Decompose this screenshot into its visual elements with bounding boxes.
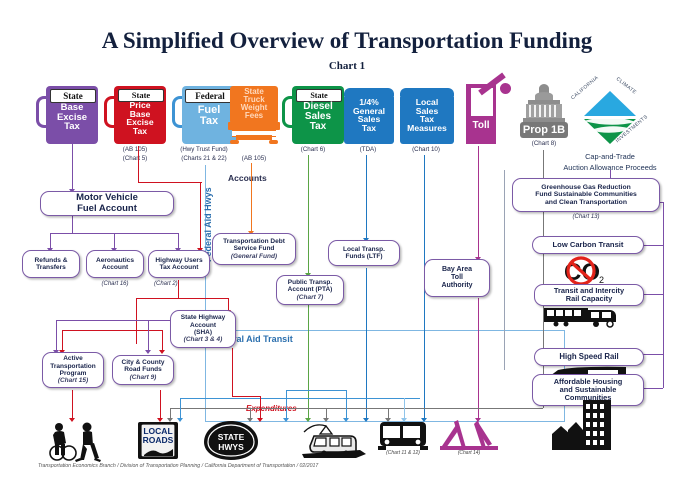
source-state-diesel-sales-tax[interactable]: State DieselSalesTax: [282, 86, 344, 144]
link-price-excise-right: [138, 182, 202, 183]
node-line: Bay Area: [442, 266, 472, 274]
node-low-carbon-transit[interactable]: Low Carbon Transit: [532, 236, 644, 254]
node-line: Transfers: [36, 264, 66, 271]
node-line: Program: [60, 370, 87, 377]
source-label: Prop 1B: [520, 125, 568, 136]
diagram-canvas: A Simplified Overview of Transportation …: [0, 0, 694, 495]
link-huta-split: [136, 298, 228, 299]
link-ccrf-to-localroads: [160, 390, 161, 420]
source-label: BaseExciseTax: [46, 103, 98, 132]
node-line: Active: [63, 355, 83, 362]
node-note-aeronautics: (Chart 16): [86, 281, 144, 287]
node-line: Account (PTA): [288, 286, 333, 293]
node-note-pta: (Chart 7): [297, 294, 324, 301]
page-title: A Simplified Overview of Transportation …: [0, 28, 694, 54]
chart-subtitle: Chart 1: [0, 60, 694, 72]
source-local-sales-tax-measures[interactable]: LocalSalesTaxMeasures: [396, 86, 456, 144]
node-note-huta: (Chart 2): [154, 281, 216, 287]
node-motor-vehicle-fuel-account[interactable]: Motor Vehicle Fuel Account: [40, 191, 174, 216]
source-label: 1/4%GeneralSalesTax: [344, 98, 394, 132]
node-line: and Clean Transportation: [545, 199, 627, 207]
source-note: (TDA): [340, 146, 396, 153]
bicyclist-pedestrian-icon: [46, 422, 106, 462]
link-sha-down: [232, 348, 233, 396]
bridge-caption: (Chart 14): [434, 450, 504, 456]
node-line: Motor Vehicle: [76, 193, 138, 204]
source-state-truck-weight-fees[interactable]: StateTruckWeightFees: [228, 86, 280, 144]
footer-credit: Transportation Economics Branch / Divisi…: [38, 463, 318, 469]
node-line: State Highway: [181, 314, 225, 321]
node-note-tdsf: (General Fund): [231, 253, 277, 260]
source-note: (AB 105): [104, 146, 166, 153]
cap-and-trade-divider: [504, 170, 505, 370]
node-note-ccrf: (Chart 9): [130, 374, 157, 381]
source-note: (Chart 5): [104, 155, 166, 162]
bus-train-icon: [544, 306, 618, 328]
link-price-excise-to-huta: [200, 182, 201, 250]
source-state-price-base-excise-tax[interactable]: State PriceBaseExciseTax: [104, 86, 166, 144]
node-refunds-transfers[interactable]: Refunds & Transfers: [22, 250, 80, 278]
source-label: DieselSalesTax: [292, 102, 344, 132]
node-line: Toll: [451, 274, 463, 282]
accounts-label: Accounts: [228, 173, 267, 183]
state-hwys-shield-icon: STATE HWYS: [202, 420, 260, 462]
link-truck-fees-to-debt-service: [251, 163, 252, 233]
node-bay-area-toll-authority[interactable]: Bay Area Toll Authority: [424, 259, 490, 297]
node-line: Account: [102, 264, 128, 271]
node-line: Authority: [441, 282, 472, 290]
source-quarter-percent-general-sales-tax[interactable]: 1/4%GeneralSalesTax: [340, 86, 396, 144]
link-diesel-to-pta: [308, 155, 309, 275]
source-note: (AB 105): [226, 155, 282, 162]
node-line: High Speed Rail: [559, 353, 618, 362]
local-roads-sign-icon: LOCAL ROADS: [135, 420, 183, 462]
node-note-atp: (Chart 15): [58, 377, 88, 384]
node-line: Fuel Account: [77, 204, 137, 215]
link-quarter-to-ltf: [366, 155, 367, 240]
link-atp-to-bikeped: [72, 390, 73, 420]
source-label: Toll: [466, 121, 496, 131]
link-capandtrade-to-ggrf: [610, 170, 611, 178]
ggrf-distribution-spine: [663, 202, 664, 388]
source-federal-fuel-tax[interactable]: Federal FuelTax: [172, 86, 236, 144]
node-line: Service Fund: [234, 245, 275, 252]
source-label: LocalSalesTaxMeasures: [400, 98, 454, 132]
bus-icon: [378, 420, 428, 450]
node-line: Funds (LTF): [345, 253, 382, 260]
node-active-transportation-program[interactable]: Active Transportation Program (Chart 15): [42, 352, 104, 388]
node-state-highway-account[interactable]: State Highway Account (SHA) (Chart 3 & 4…: [170, 310, 236, 348]
svg-text:STATE: STATE: [218, 432, 245, 442]
source-note: (Chart 8): [516, 140, 572, 147]
node-line: Tax Account: [160, 264, 199, 271]
node-line: Account: [190, 322, 216, 329]
node-transit-and-intercity-rail-capacity[interactable]: Transit and Intercity Rail Capacity: [534, 284, 644, 306]
node-line: (SHA): [194, 329, 212, 336]
node-line: Fund Sustainable Communities: [535, 191, 637, 199]
source-prop-1b[interactable]: Prop 1B: [516, 84, 572, 144]
node-note-ggrf: (Chart 13): [512, 214, 660, 220]
node-greenhouse-gas-reduction-fund[interactable]: Greenhouse Gas Reduction Fund Sustainabl…: [512, 178, 660, 212]
node-line: Local Transp.: [343, 246, 385, 253]
link-price-excise-down: [138, 146, 139, 182]
svg-text:HWYS: HWYS: [218, 442, 244, 452]
source-label: PriceBaseExciseTax: [114, 101, 166, 135]
source-state-base-excise-tax[interactable]: State BaseExciseTax: [36, 86, 98, 144]
node-line: Greenhouse Gas Reduction: [541, 184, 631, 192]
source-label: StateTruckWeightFees: [230, 88, 278, 120]
bridge-icon: [440, 418, 498, 452]
source-cap-label: State: [50, 89, 96, 103]
node-line: Public Transp.: [288, 279, 332, 286]
no-co2-icon: CO 2: [556, 254, 608, 286]
buildings-icon: [548, 400, 618, 452]
node-line: Refunds &: [35, 257, 68, 264]
node-line: Road Funds: [124, 366, 162, 373]
node-line: Rail Capacity: [566, 295, 612, 303]
source-note: (Chart 10): [396, 146, 456, 153]
link-mvfa-down: [72, 215, 73, 233]
node-line: City & County: [122, 359, 165, 366]
node-line: Transportation Debt: [223, 238, 285, 245]
link-pta-to-transit: [308, 304, 309, 420]
node-line: Transportation: [50, 363, 96, 370]
node-highway-users-tax-account[interactable]: Highway Users Tax Account: [148, 250, 210, 278]
bus-caption: (Chart 11 & 12): [368, 450, 438, 456]
node-city-county-road-funds[interactable]: City & County Road Funds (Chart 9): [112, 355, 174, 385]
node-aeronautics-account[interactable]: Aeronautics Account: [86, 250, 144, 278]
node-line: Aeronautics: [96, 257, 134, 264]
prop1b-expenditure-bus: [170, 408, 543, 409]
node-line: Low Carbon Transit: [553, 241, 624, 250]
source-note: (Hwy Trust Fund): [164, 146, 244, 153]
node-line: Highway Users: [155, 257, 202, 264]
federal-aid-hwys-distribution: [180, 398, 420, 399]
node-transportation-debt-service-fund[interactable]: Transportation Debt Service Fund (Genera…: [212, 233, 296, 265]
node-high-speed-rail[interactable]: High Speed Rail: [534, 348, 644, 366]
node-note-sha: (Chart 3 & 4): [184, 336, 223, 343]
source-toll[interactable]: Toll: [462, 84, 512, 144]
cap-and-trade-caption-line1: Cap-and-Trade: [530, 152, 690, 161]
link-bata-to-bridge: [478, 298, 479, 420]
source-note: (Chart 6): [282, 146, 344, 153]
california-climate-investments-logo: CALIFORNIA CLIMATE INVESTMENTS: [570, 82, 650, 154]
light-rail-icon: [296, 420, 368, 462]
link-toll-to-bata: [478, 146, 479, 259]
node-public-transp-account-pta[interactable]: Public Transp. Account (PTA) (Chart 7): [276, 275, 344, 305]
svg-text:ROADS: ROADS: [143, 435, 174, 445]
link-base-excise-to-mvfa: [72, 144, 73, 191]
node-local-transp-funds-ltf[interactable]: Local Transp. Funds (LTF): [328, 240, 400, 266]
